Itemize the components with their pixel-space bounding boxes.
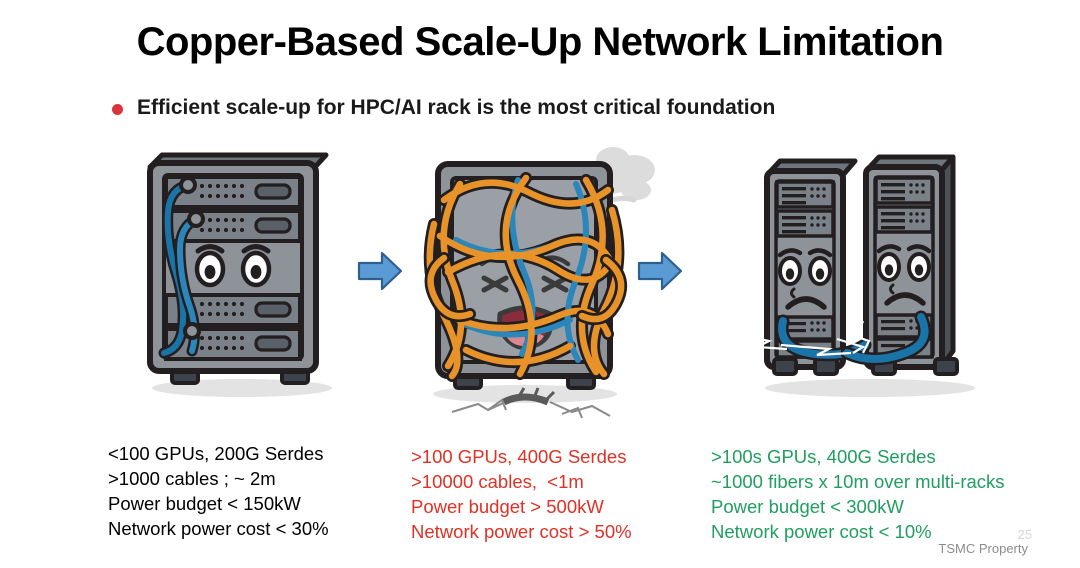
caption-line: Power budget > 500kW: [411, 494, 632, 519]
pupil-left: [786, 268, 794, 279]
page-number: 25: [1018, 527, 1032, 542]
rack-foot-left: [774, 359, 796, 374]
pupil-left: [885, 264, 893, 275]
bullet-text: Efficient scale-up for HPC/AI rack is th…: [137, 96, 775, 120]
caption-line: >10000 cables, <1m: [411, 469, 632, 494]
caption-line: Network power cost < 30%: [108, 516, 329, 541]
illustration-dual-rack-connected: [745, 145, 995, 400]
arrow-1-right-arrow-icon: [357, 250, 403, 292]
caption-line: Network power cost > 50%: [411, 519, 632, 544]
caption-line: >1000 cables ; ~ 2m: [108, 466, 329, 491]
illustration-tangled-rack-overwhelmed: [400, 140, 670, 430]
rack-shadow: [765, 379, 975, 397]
caption-line: <100 GPUs, 200G Serdes: [108, 441, 329, 466]
slide-root: Copper-Based Scale-Up Network Limitation…: [0, 0, 1080, 568]
caption-col-2: >100 GPUs, 400G Serdes >10000 cables, <1…: [411, 444, 632, 544]
caption-col-3: >100s GPUs, 400G Serdes ~1000 fibers x 1…: [711, 444, 1005, 544]
dual-rack-svg: [745, 145, 995, 400]
illustration-single-rack-sad: [140, 145, 350, 400]
caption-line: Power budget < 150kW: [108, 491, 329, 516]
caption-line: >100s GPUs, 400G Serdes: [711, 444, 1005, 469]
server-slot: [777, 182, 833, 207]
server-slot: [777, 211, 833, 236]
server-slot: [876, 207, 932, 232]
pupil-left: [205, 265, 216, 279]
page-title: Copper-Based Scale-Up Network Limitation: [0, 20, 1080, 65]
server-slot: [876, 178, 932, 203]
caption-col-1: <100 GPUs, 200G Serdes >1000 cables ; ~ …: [108, 441, 329, 541]
bullet-dot-icon: [112, 104, 123, 115]
caption-line: Power budget < 300kW: [711, 494, 1005, 519]
pupil-right: [251, 265, 262, 279]
caption-line: >100 GPUs, 400G Serdes: [411, 444, 632, 469]
bullet-row: Efficient scale-up for HPC/AI rack is th…: [112, 96, 775, 120]
rack-right: [866, 157, 957, 374]
rack-foot-right: [935, 359, 957, 374]
tangled-rack-svg: [400, 140, 670, 430]
pupil-right: [915, 264, 923, 275]
arrow-2-right-arrow-icon: [637, 250, 683, 292]
pupil-right: [816, 268, 824, 279]
caption-line: ~1000 fibers x 10m over multi-racks: [711, 469, 1005, 494]
footer-property-label: TSMC Property: [938, 541, 1028, 556]
single-rack-svg: [140, 145, 350, 400]
